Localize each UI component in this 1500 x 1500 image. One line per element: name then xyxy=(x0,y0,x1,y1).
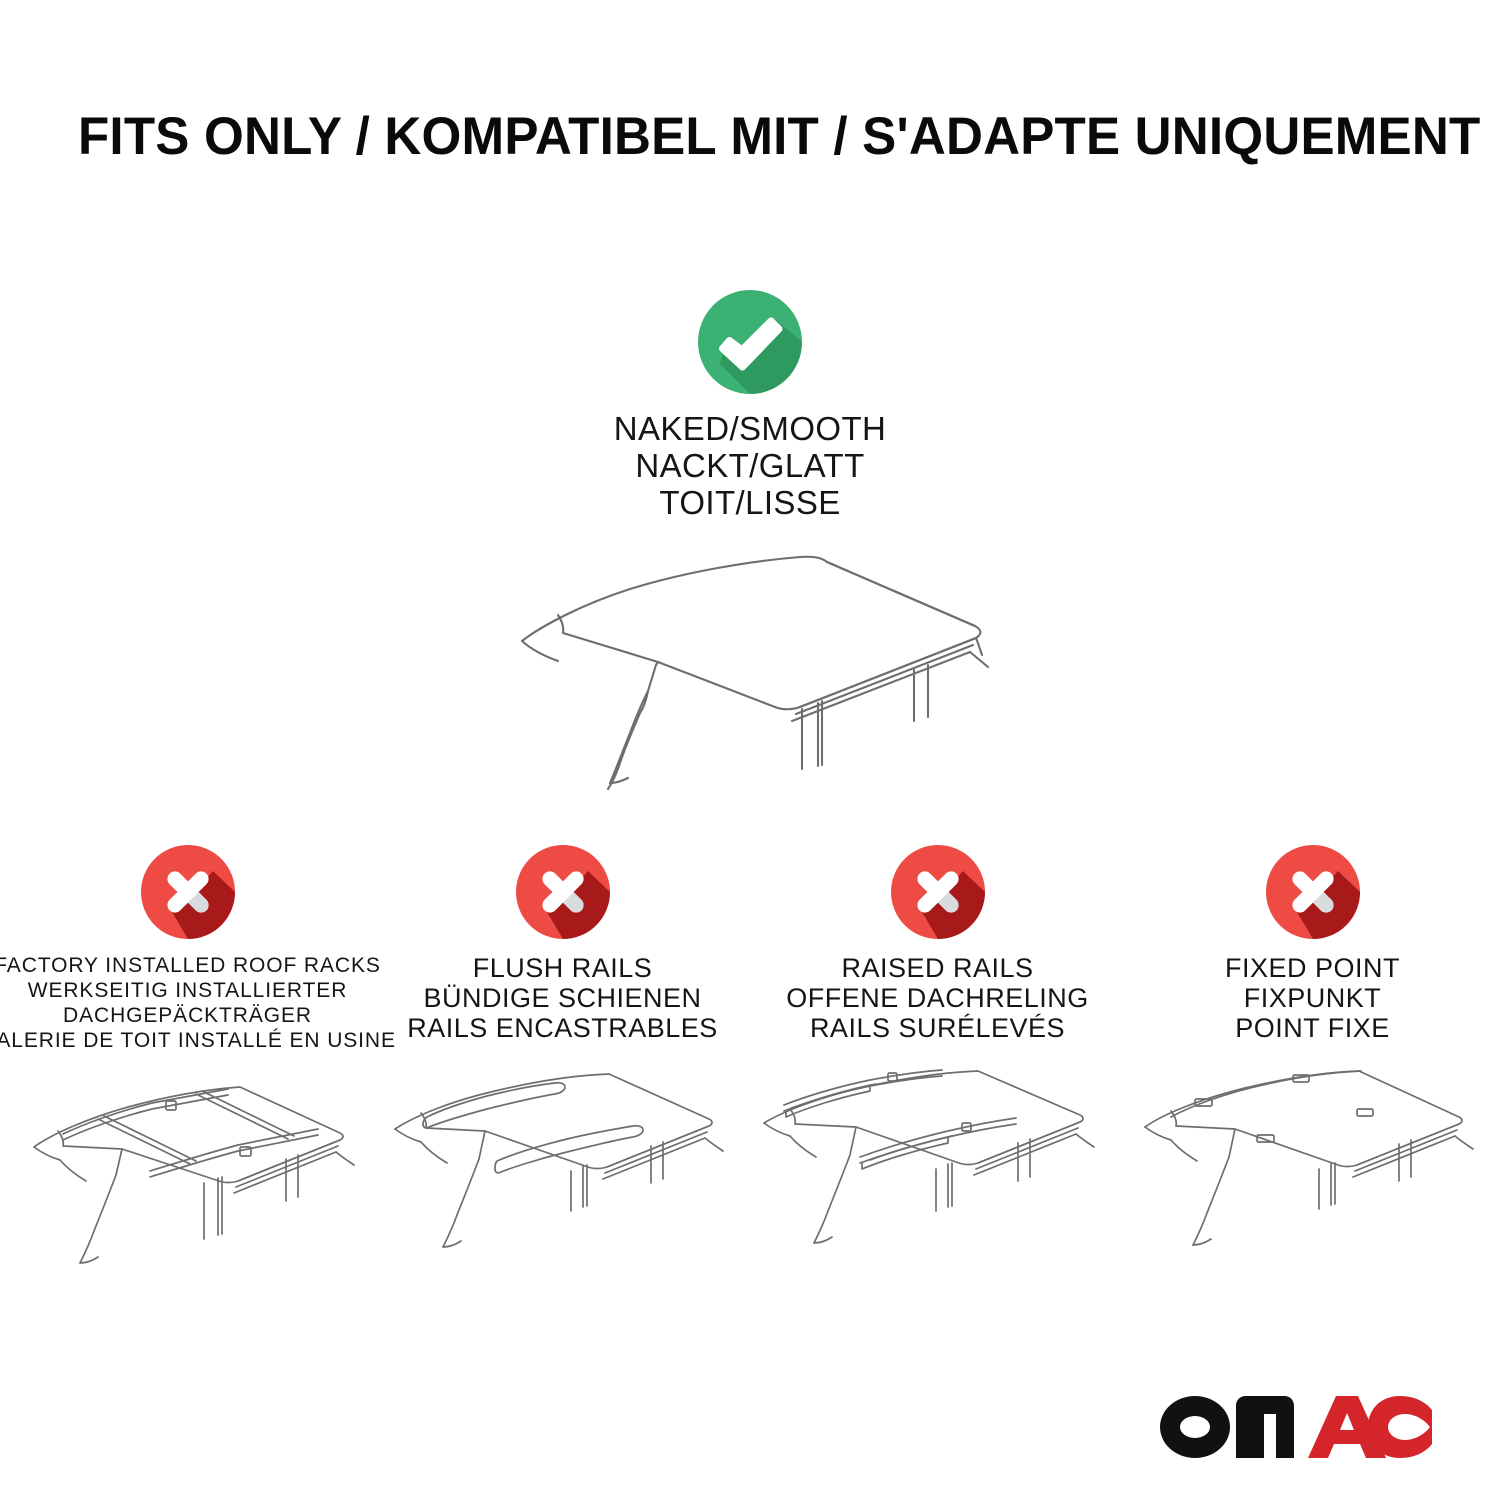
label-line-2: WERKSEITIG INSTALLIERTER xyxy=(0,978,396,1003)
label-line-1: FLUSH RAILS xyxy=(407,953,718,983)
label-line-3: RAILS ENCASTRABLES xyxy=(407,1013,718,1043)
label-line-3: RAILS SURÉLEVÉS xyxy=(786,1013,1089,1043)
x-circle-icon xyxy=(516,845,610,939)
car-roof-naked-smooth-illustration xyxy=(470,531,1030,811)
page-title: FITS ONLY / KOMPATIBEL MIT / S'ADAPTE UN… xyxy=(78,106,1480,168)
compatible-label-line-3: TOIT/LISSE xyxy=(0,484,1500,521)
label-line-1: RAISED RAILS xyxy=(786,953,1089,983)
incompatible-label-fixed-point: FIXED POINT FIXPUNKT POINT FIXE xyxy=(1225,953,1400,1043)
car-roof-flush-rails-illustration xyxy=(375,1061,750,1271)
label-line-1: FIXED POINT xyxy=(1225,953,1400,983)
x-circle-icon xyxy=(891,845,985,939)
check-circle-icon xyxy=(698,290,802,394)
x-circle-icon xyxy=(141,845,235,939)
incompatible-item-fixed-point: FIXED POINT FIXPUNKT POINT FIXE xyxy=(1125,845,1500,1271)
incompatible-item-raised-rails: RAISED RAILS OFFENE DACHRELING RAILS SUR… xyxy=(750,845,1125,1271)
car-roof-factory-rack-illustration xyxy=(0,1071,375,1281)
label-line-4: GALERIE DE TOIT INSTALLÉ EN USINE xyxy=(0,1028,396,1053)
compatible-label-line-2: NACKT/GLATT xyxy=(0,447,1500,484)
label-line-2: OFFENE DACHRELING xyxy=(786,983,1089,1013)
incompatible-label-raised-rails: RAISED RAILS OFFENE DACHRELING RAILS SUR… xyxy=(786,953,1089,1043)
car-roof-raised-rails-illustration xyxy=(750,1061,1125,1271)
label-line-1: FACTORY INSTALLED ROOF RACKS xyxy=(0,953,396,978)
label-line-3: POINT FIXE xyxy=(1225,1013,1400,1043)
car-roof-fixed-point-illustration xyxy=(1125,1061,1500,1271)
label-line-2: BÜNDIGE SCHIENEN xyxy=(407,983,718,1013)
x-circle-icon xyxy=(1266,845,1360,939)
incompatible-label-factory-rack: FACTORY INSTALLED ROOF RACKS WERKSEITIG … xyxy=(0,953,396,1053)
incompatible-label-flush-rails: FLUSH RAILS BÜNDIGE SCHIENEN RAILS ENCAS… xyxy=(407,953,718,1043)
incompatible-item-flush-rails: FLUSH RAILS BÜNDIGE SCHIENEN RAILS ENCAS… xyxy=(375,845,750,1271)
label-line-2: FIXPUNKT xyxy=(1225,983,1400,1013)
omac-logo xyxy=(1160,1396,1432,1458)
compatible-section: NAKED/SMOOTH NACKT/GLATT TOIT/LISSE xyxy=(0,290,1500,811)
compatible-label-line-1: NAKED/SMOOTH xyxy=(0,410,1500,447)
incompatible-item-factory-rack: FACTORY INSTALLED ROOF RACKS WERKSEITIG … xyxy=(0,845,375,1281)
label-line-3: DACHGEPÄCKTRÄGER xyxy=(0,1003,396,1028)
compatible-label: NAKED/SMOOTH NACKT/GLATT TOIT/LISSE xyxy=(0,410,1500,521)
incompatible-section: FACTORY INSTALLED ROOF RACKS WERKSEITIG … xyxy=(0,845,1500,1281)
